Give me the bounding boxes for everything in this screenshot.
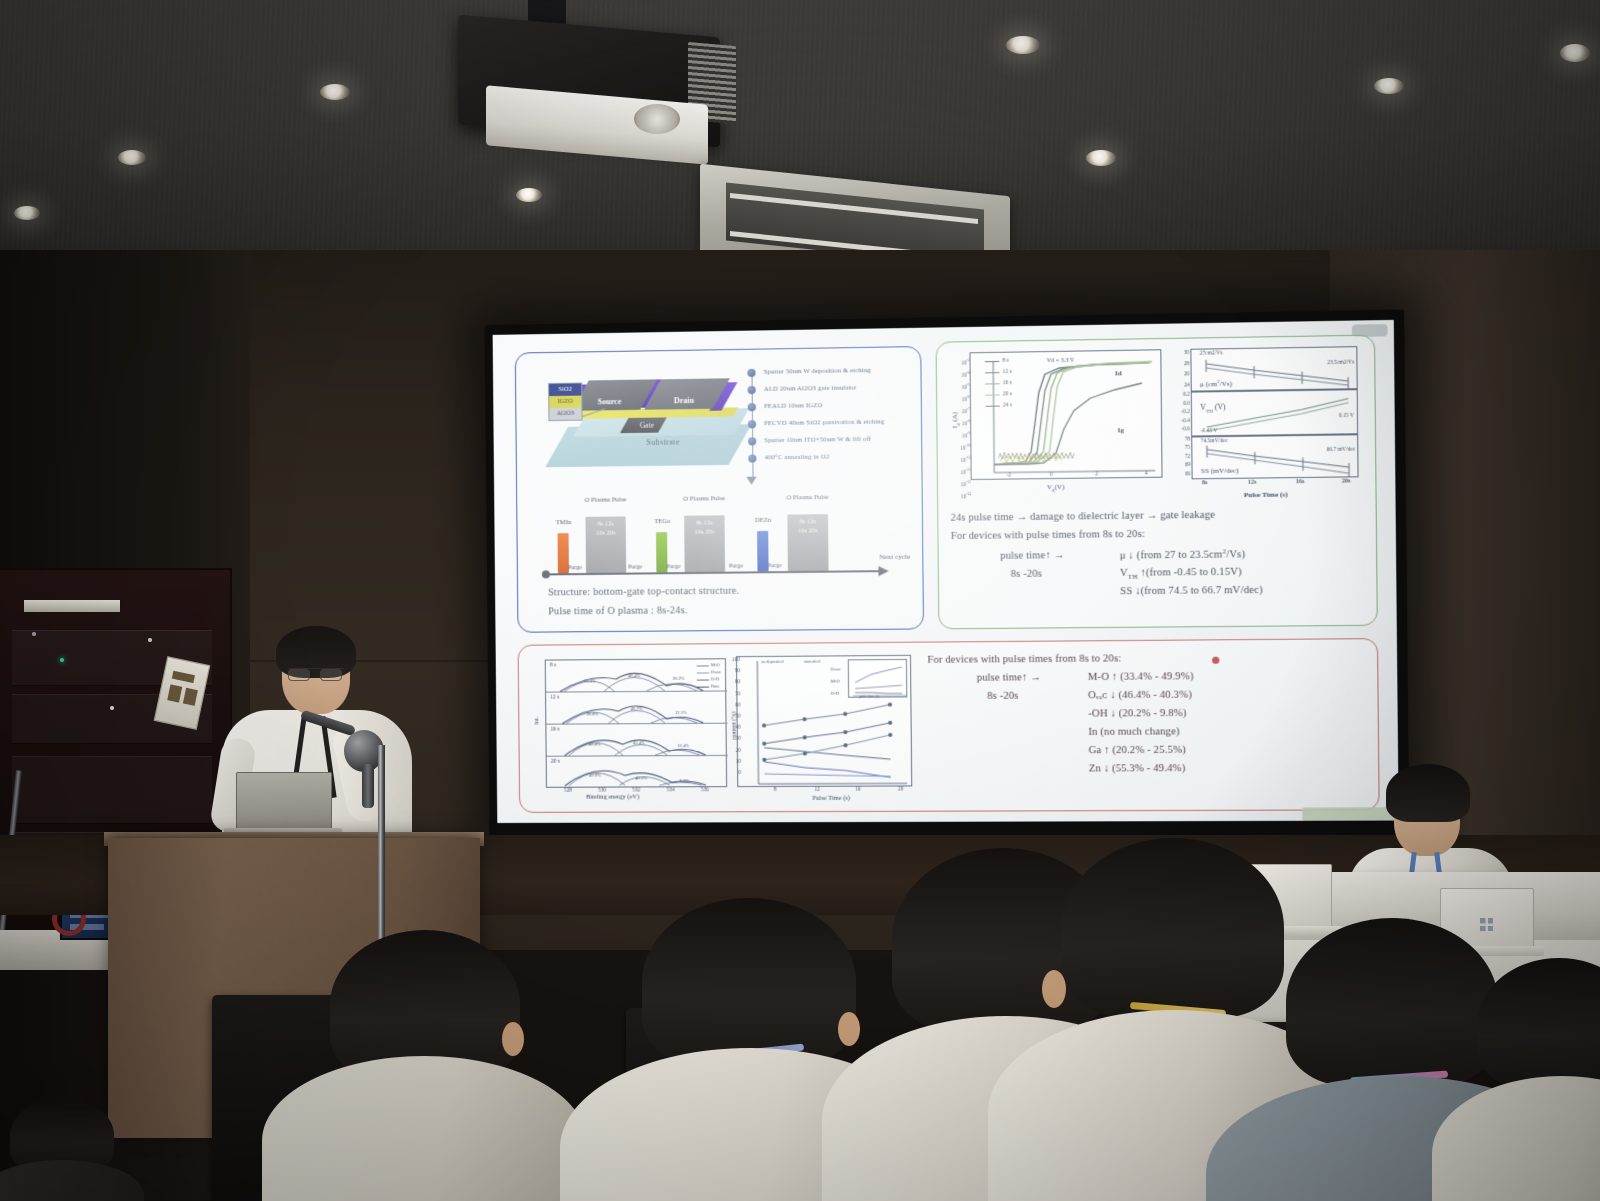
xtick: 528 — [564, 788, 572, 794]
audience-ear — [1042, 970, 1066, 1008]
xps-percent: 12.4% — [677, 743, 689, 748]
oxidant-times-b: 16s 20s — [586, 529, 626, 538]
ytick-vth: 0.20.0-0.2-0.4-0.6 — [1170, 391, 1190, 435]
status-led — [148, 638, 152, 642]
process-step-label: PECVD 40nm SiO2 passivation & etching — [764, 418, 884, 427]
inset-axis-label: pulse time (s) — [859, 695, 879, 699]
annotation-mu-end: 23.5cm2/Vs — [1327, 359, 1354, 366]
device-schematic: Substrate Gate Source Drain SiO2 — [550, 374, 748, 477]
ald-pulse-sequence: TMIn O Plasma Pulse 8s 12s 16s 20s TEGa … — [543, 477, 908, 586]
curve-label-id: Id — [1115, 369, 1122, 377]
curve-label-ig: Ig — [1118, 426, 1125, 434]
bullet-lead-pulse-up: pulse time↑ → — [1000, 550, 1064, 562]
xtick: 20 — [898, 786, 903, 792]
xps-percent: 38.8% — [586, 711, 598, 716]
legend-swatch-oh — [697, 680, 709, 681]
axis-label-intensity: Int. — [534, 717, 540, 725]
xtick: 16 — [855, 787, 860, 793]
purge-label: Purge — [666, 564, 680, 570]
notice-line — [172, 671, 195, 683]
chart-vth-vs-pulse: VTH (V) -0.45 V 0.15 V — [1191, 389, 1358, 436]
legend-header-as-deposited: as deposited — [761, 659, 783, 664]
chart-annotation-vd: Vd = 3.3 V — [1047, 358, 1075, 365]
xps-row-label: 8 s — [550, 663, 556, 669]
xps-row-svg — [547, 756, 728, 787]
bullet-dot-icon — [748, 438, 756, 446]
lens-left — [288, 669, 310, 681]
xtick: 8 — [774, 787, 777, 793]
chart-ss-vs-pulse: 74.5mV/dec 66.7 mV/dec SS (mV/dec) — [1191, 434, 1358, 479]
legend-swatch-ovac — [697, 672, 709, 673]
xps-percent: 48.7% — [631, 706, 643, 711]
oxidant-title: O Plasma Pulse — [676, 495, 733, 504]
inset-svg — [849, 660, 909, 699]
bullet-dot-icon — [748, 455, 756, 463]
panel-electrical-results: 8 s 12 s 16 s 20 s 24 s Vd = 3.3 V Id Ig… — [936, 335, 1378, 630]
audience-shoulders — [1432, 1076, 1600, 1201]
legend-swatch-raw — [697, 687, 709, 688]
bullet-dot-icon — [747, 369, 755, 377]
status-led — [60, 658, 64, 662]
xps-row: 16 s 42.4% 45.4% 12.4% — [546, 724, 727, 757]
xtick: 536 — [701, 787, 709, 793]
bullet-dot-icon — [748, 420, 756, 428]
legend-swatch-8s — [985, 361, 999, 363]
process-flow-list: Sputter 50nm W deposition & etching ALD … — [747, 361, 919, 466]
axis-label-pulse-time: Pulse Time (s) — [812, 795, 850, 802]
xps-row: 20 s 49.9% 40.3% 9.8% — [547, 756, 728, 789]
axis-label-mobility: μ (cm2/Vs) — [1200, 379, 1232, 389]
notice-line — [167, 684, 182, 702]
purge-label: Purge — [628, 564, 642, 570]
downlight — [1560, 44, 1590, 62]
bullet-lead-range: 8s -20s — [1011, 569, 1042, 580]
stack-layer-al2o3: Al2O3 — [549, 408, 581, 420]
legend-label-mo: M-O — [711, 662, 720, 667]
chart-mobility-vs-pulse: 27cm2/Vs 23.5cm2/Vs μ (cm2/Vs) — [1190, 346, 1357, 392]
lens-right — [320, 669, 342, 681]
purge-label: Purge — [768, 563, 782, 569]
oxidant-times-a: 8s 12s — [684, 519, 724, 528]
bottom-lead-pulse-up: pulse time↑ → — [977, 672, 1041, 684]
legend-label-raw: Raw — [711, 683, 720, 688]
downlight — [320, 84, 350, 100]
xtick: 2 — [1095, 471, 1098, 477]
bottom-item-in: In (no much change) — [1088, 726, 1179, 738]
xtick-pulse-8s: 8s — [1202, 480, 1208, 486]
gate-label: Gate — [625, 420, 669, 430]
chart-xps-o1s: 8 s 33.4% 46.4% 20.2% — [545, 658, 727, 788]
microphone-neck — [362, 764, 374, 808]
audience-hair — [1478, 958, 1600, 1088]
chart-transfer-curves: 8 s 12 s 16 s 20 s 24 s Vd = 3.3 V Id Ig… — [969, 349, 1162, 480]
annotation-ss-end: 66.7 mV/dec — [1326, 447, 1355, 454]
xps-percent: 45.4% — [633, 740, 645, 745]
oxidant-title: O Plasma Pulse — [779, 494, 836, 503]
xps-row-label: 16 s — [550, 727, 559, 733]
xtick-pulse-20s: 20s — [1342, 478, 1351, 484]
bottom-item-ovac: Oᵥₐᴄ ↓ (46.4% - 40.3%) — [1088, 690, 1192, 702]
xtick: 0 — [1050, 472, 1053, 478]
annotation-mu-start: 27cm2/Vs — [1200, 350, 1223, 356]
xtick: -2 — [1007, 472, 1012, 478]
legend-swatch-20s — [985, 394, 999, 396]
ytick-content: 1009080706050403020100 — [726, 655, 741, 779]
oxidant-times-a: 8s 12s — [586, 520, 626, 529]
xtick: 4 — [1145, 471, 1148, 477]
process-step: 400°C annealing in O2 — [748, 447, 919, 466]
panel-device-process: Substrate Gate Source Drain SiO2 — [515, 346, 924, 633]
bottom-item-ga: Ga ↑ (20.2% - 25.5%) — [1089, 745, 1186, 757]
bullet-dot-icon — [748, 403, 756, 411]
annotation-vth-start: -0.45 V — [1200, 428, 1217, 434]
axis-label-pulse-time: Pulse Time (s) — [1244, 490, 1288, 499]
presenter-glasses-icon — [288, 668, 344, 680]
xps-percent: 40.3% — [635, 775, 647, 780]
vth-subscript: TH — [1128, 574, 1138, 581]
oxidant-times-b: 16s 20s — [787, 527, 828, 536]
transfer-curves-svg — [971, 350, 1164, 481]
process-step-label: 400°C annealing in O2 — [764, 453, 829, 461]
audience-ear — [502, 1022, 524, 1056]
bottom-item-zn: Zn ↓ (55.3% - 49.4%) — [1089, 763, 1186, 775]
projector-lens — [634, 104, 680, 134]
chair-hair — [1386, 764, 1470, 822]
substrate-label: Substrate — [603, 437, 724, 448]
purge-label: Purge — [729, 563, 743, 569]
stack-layer-igzo: IGZO — [549, 396, 581, 408]
pulse-label-tega: TEGa — [644, 518, 680, 525]
pulse-label-dezn: DEZn — [745, 517, 782, 524]
notice-line — [183, 688, 198, 706]
bullet-dot-icon — [748, 386, 756, 394]
legend-header-annealed: annealed — [804, 659, 820, 664]
stack-layer-sio2: SiO2 — [549, 384, 581, 397]
xps-row: 12 s 38.8% 48.7% 12.5% — [546, 691, 727, 724]
xtick: 530 — [598, 788, 606, 794]
axis-label-binding-energy: Binding energy (eV) — [586, 793, 639, 800]
composition-inset-chart: pulse time (s) — [848, 659, 908, 698]
xtick-pulse-12s: 12s — [1248, 480, 1257, 486]
oxidant-title: O Plasma Pulse — [577, 496, 633, 505]
source-label: Source — [576, 397, 642, 407]
process-step-label: ALD 20nm Al2O3 gate insulator — [764, 384, 857, 392]
panel-xps-composition: 8 s 33.4% 46.4% 20.2% — [518, 638, 1380, 813]
legend-label-20s: 20 s — [1003, 391, 1012, 397]
xps-percent: 9.8% — [680, 778, 690, 783]
annotation-ss-start: 74.5mV/dec — [1201, 438, 1228, 444]
layer-stack-callout: SiO2 IGZO Al2O3 — [548, 383, 582, 422]
legend-label-24s: 24 s — [1003, 402, 1012, 408]
purge-label: Purge — [568, 565, 582, 571]
xps-percent: 49.9% — [589, 773, 601, 778]
chart-content-vs-pulse: as deposited annealed Ovac M-O O-H — [736, 655, 912, 787]
note-gate-leakage: 24s pulse time → damage to dielectric la… — [951, 510, 1216, 524]
axis-label-vg: Vg(V) — [1047, 483, 1065, 493]
xps-percent: 46.4% — [628, 673, 640, 678]
ytick-decades: 10-310-410-510-610-710-810-910-1010-1110… — [953, 356, 971, 502]
lecture-room: Substrate Gate Source Drain SiO2 — [0, 0, 1600, 1201]
time-axis-origin — [542, 570, 550, 578]
audience-member — [0, 1098, 120, 1201]
ytick-ss: 7875726966 — [1173, 435, 1191, 478]
bullet-vth: VTH ↑(from -0.45 to 0.15V) — [1120, 567, 1242, 582]
bottom-item-oh: -OH ↓ (20.2% - 9.8%) — [1088, 708, 1186, 720]
oxidant-times-b: 16s 20s — [684, 528, 724, 537]
audience-member — [1452, 958, 1600, 1201]
xtick-pulse-16s: 16s — [1296, 479, 1305, 485]
downlight — [1374, 78, 1404, 94]
audience-shoulders — [262, 1056, 586, 1201]
legend-swatch-12s — [985, 372, 999, 374]
xps-percent: 12.5% — [675, 710, 687, 715]
oxidant-times-a: 8s 12s — [787, 518, 828, 527]
rack-faceplate — [24, 600, 120, 612]
legend-label-oh: O-H — [831, 691, 839, 696]
drain-label: Drain — [651, 396, 718, 406]
legend-label-oh: O-H — [711, 676, 719, 681]
annotation-vth-end: 0.15 V — [1339, 413, 1354, 419]
rack-unit — [12, 756, 212, 824]
legend-label-ovac: Ovac — [711, 669, 721, 674]
bullet-ss: SS ↓(from 74.5 to 66.7 mV/dec) — [1120, 585, 1263, 598]
legend-label-mo: M-O — [831, 679, 840, 684]
note-pulse-range: For devices with pulse times from 8s to … — [951, 529, 1145, 542]
legend-label-ovac: Ovac — [830, 666, 840, 671]
xtick: 534 — [667, 787, 675, 793]
pulse-label-tmin: TMIn — [545, 519, 581, 526]
next-cycle-label: Next cycle — [877, 553, 912, 562]
downlight — [1006, 36, 1040, 54]
legend-swatch-16s — [985, 383, 999, 385]
xtick: 532 — [632, 787, 640, 793]
xps-percent: 42.4% — [589, 741, 601, 746]
process-step-label: PEALD 10nm IGZO — [764, 402, 823, 410]
downlight — [118, 150, 146, 165]
pulse-time-caption: Pulse time of O plasma : 8s-24s. — [548, 605, 687, 617]
bottom-lead-range: 8s -20s — [987, 691, 1018, 702]
audience-hair — [642, 898, 856, 1066]
projection-screen-frame: Substrate Gate Source Drain SiO2 — [485, 309, 1410, 837]
axis-label-ss: SS (mV/dec) — [1201, 467, 1239, 476]
status-led — [32, 632, 36, 636]
projection-screen: Substrate Gate Source Drain SiO2 — [493, 320, 1399, 823]
legend-swatch-24s — [985, 406, 999, 408]
xps-percent: 33.4% — [584, 678, 596, 683]
legend-label-12s: 12 s — [1003, 369, 1012, 375]
bottom-heading: For devices with pulse times from 8s to … — [927, 653, 1121, 666]
bottom-item-mo: M-O ↑ (33.4% - 49.9%) — [1088, 671, 1194, 683]
xps-row-label: 12 s — [550, 695, 559, 701]
legend-label-16s: 16 s — [1003, 380, 1012, 386]
slide-content: Substrate Gate Source Drain SiO2 — [493, 320, 1399, 823]
status-led — [110, 706, 114, 710]
audience-member — [296, 930, 548, 1201]
legend-swatch-mo — [697, 665, 709, 666]
xtick: 12 — [814, 787, 819, 793]
downlight — [1086, 150, 1116, 166]
downlight — [516, 188, 542, 202]
xps-row-label: 20 s — [551, 759, 560, 765]
structure-caption: Structure: bottom-gate top-contact struc… — [548, 586, 739, 599]
red-dot-marker — [1212, 657, 1219, 664]
process-step-label: Sputter 50nm W deposition & etching — [764, 367, 871, 376]
laptop-screen — [236, 772, 332, 830]
axis-label-vth: VTH (V) — [1200, 402, 1225, 414]
bullet-mobility: μ ↓ (from 27 to 23.5cm2/Vs) — [1120, 548, 1246, 562]
xps-percent: 20.2% — [673, 676, 685, 681]
legend-label-8s: 8 s — [1002, 358, 1008, 364]
process-step-label: Sputter 10nm ITO+50nm W & lift off — [764, 436, 871, 445]
ytick-mu: 30282624 — [1172, 348, 1190, 391]
downlight — [14, 206, 40, 220]
